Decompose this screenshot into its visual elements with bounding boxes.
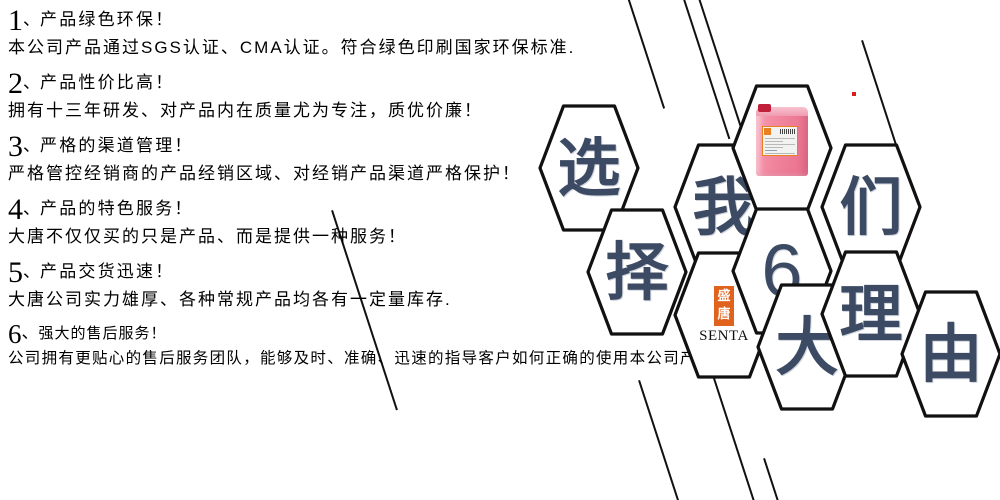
reason-separator: 、 (23, 10, 40, 29)
reason-item: 1、产品绿色环保！ 本公司产品通过SGS认证、CMA认证。符合绿色印刷国家环保标… (8, 6, 648, 60)
decor-diagonal-line-8 (763, 458, 782, 500)
reason-heading: 强大的售后服务！ (39, 325, 167, 342)
jerrycan-cap (758, 104, 771, 112)
poster-canvas: 1、产品绿色环保！ 本公司产品通过SGS认证、CMA认证。符合绿色印刷国家环保标… (0, 0, 1000, 500)
reason-number: 1 (8, 4, 23, 37)
hex-cell-you[interactable]: 由 (900, 290, 1000, 418)
reason-heading: 产品绿色环保！ (40, 10, 174, 29)
reason-title: 1、产品绿色环保！ (8, 6, 648, 36)
reason-title: 5、产品交货迅速！ (8, 258, 648, 288)
reason-heading: 产品性价比高！ (40, 73, 174, 92)
brand-seal-char-bottom: 唐 (717, 308, 730, 321)
reason-item: 6、强大的售后服务！ 公司拥有更贴心的售后服务团队，能够及时、准确、迅速的指导客… (8, 321, 648, 370)
reason-separator: 、 (23, 73, 40, 92)
reason-heading: 产品交货迅速！ (40, 262, 174, 281)
reason-separator: 、 (22, 323, 39, 342)
jerrycan-label (762, 126, 798, 156)
reason-heading: 产品的特色服务！ (40, 199, 194, 218)
label-orange-block (764, 128, 771, 135)
brand-seal-char-top: 盛 (717, 290, 730, 303)
reason-number: 6 (8, 319, 22, 349)
reason-title: 2、产品性价比高！ (8, 69, 648, 99)
reason-number: 3 (8, 130, 23, 163)
decor-diagonal-line-7 (711, 372, 756, 500)
reason-body: 公司拥有更贴心的售后服务团队，能够及时、准确、迅速的指导客户如何正确的使用本公司… (8, 349, 648, 370)
reason-number: 5 (8, 256, 23, 289)
reason-separator: 、 (23, 199, 40, 218)
reason-title: 6、强大的售后服务！ (8, 321, 648, 348)
product-image (753, 104, 811, 178)
decor-diagonal-line-6 (638, 380, 680, 500)
label-text-lines (765, 138, 795, 156)
reason-item: 5、产品交货迅速！ 大唐公司实力雄厚、各种常规产品均各有一定量库存. (8, 258, 648, 312)
hex-label-you: 由 (900, 290, 1000, 418)
decor-red-dot (852, 92, 856, 96)
reason-number: 4 (8, 193, 23, 226)
reason-separator: 、 (23, 262, 40, 281)
label-barcode (780, 129, 796, 134)
hex-cell-product-photo[interactable] (731, 84, 833, 212)
reason-separator: 、 (23, 136, 40, 155)
reason-body: 大唐公司实力雄厚、各种常规产品均各有一定量库存. (8, 289, 648, 312)
reason-body: 本公司产品通过SGS认证、CMA认证。符合绿色印刷国家环保标准. (8, 37, 648, 60)
reason-heading: 严格的渠道管理！ (40, 136, 194, 155)
reason-number: 2 (8, 67, 23, 100)
